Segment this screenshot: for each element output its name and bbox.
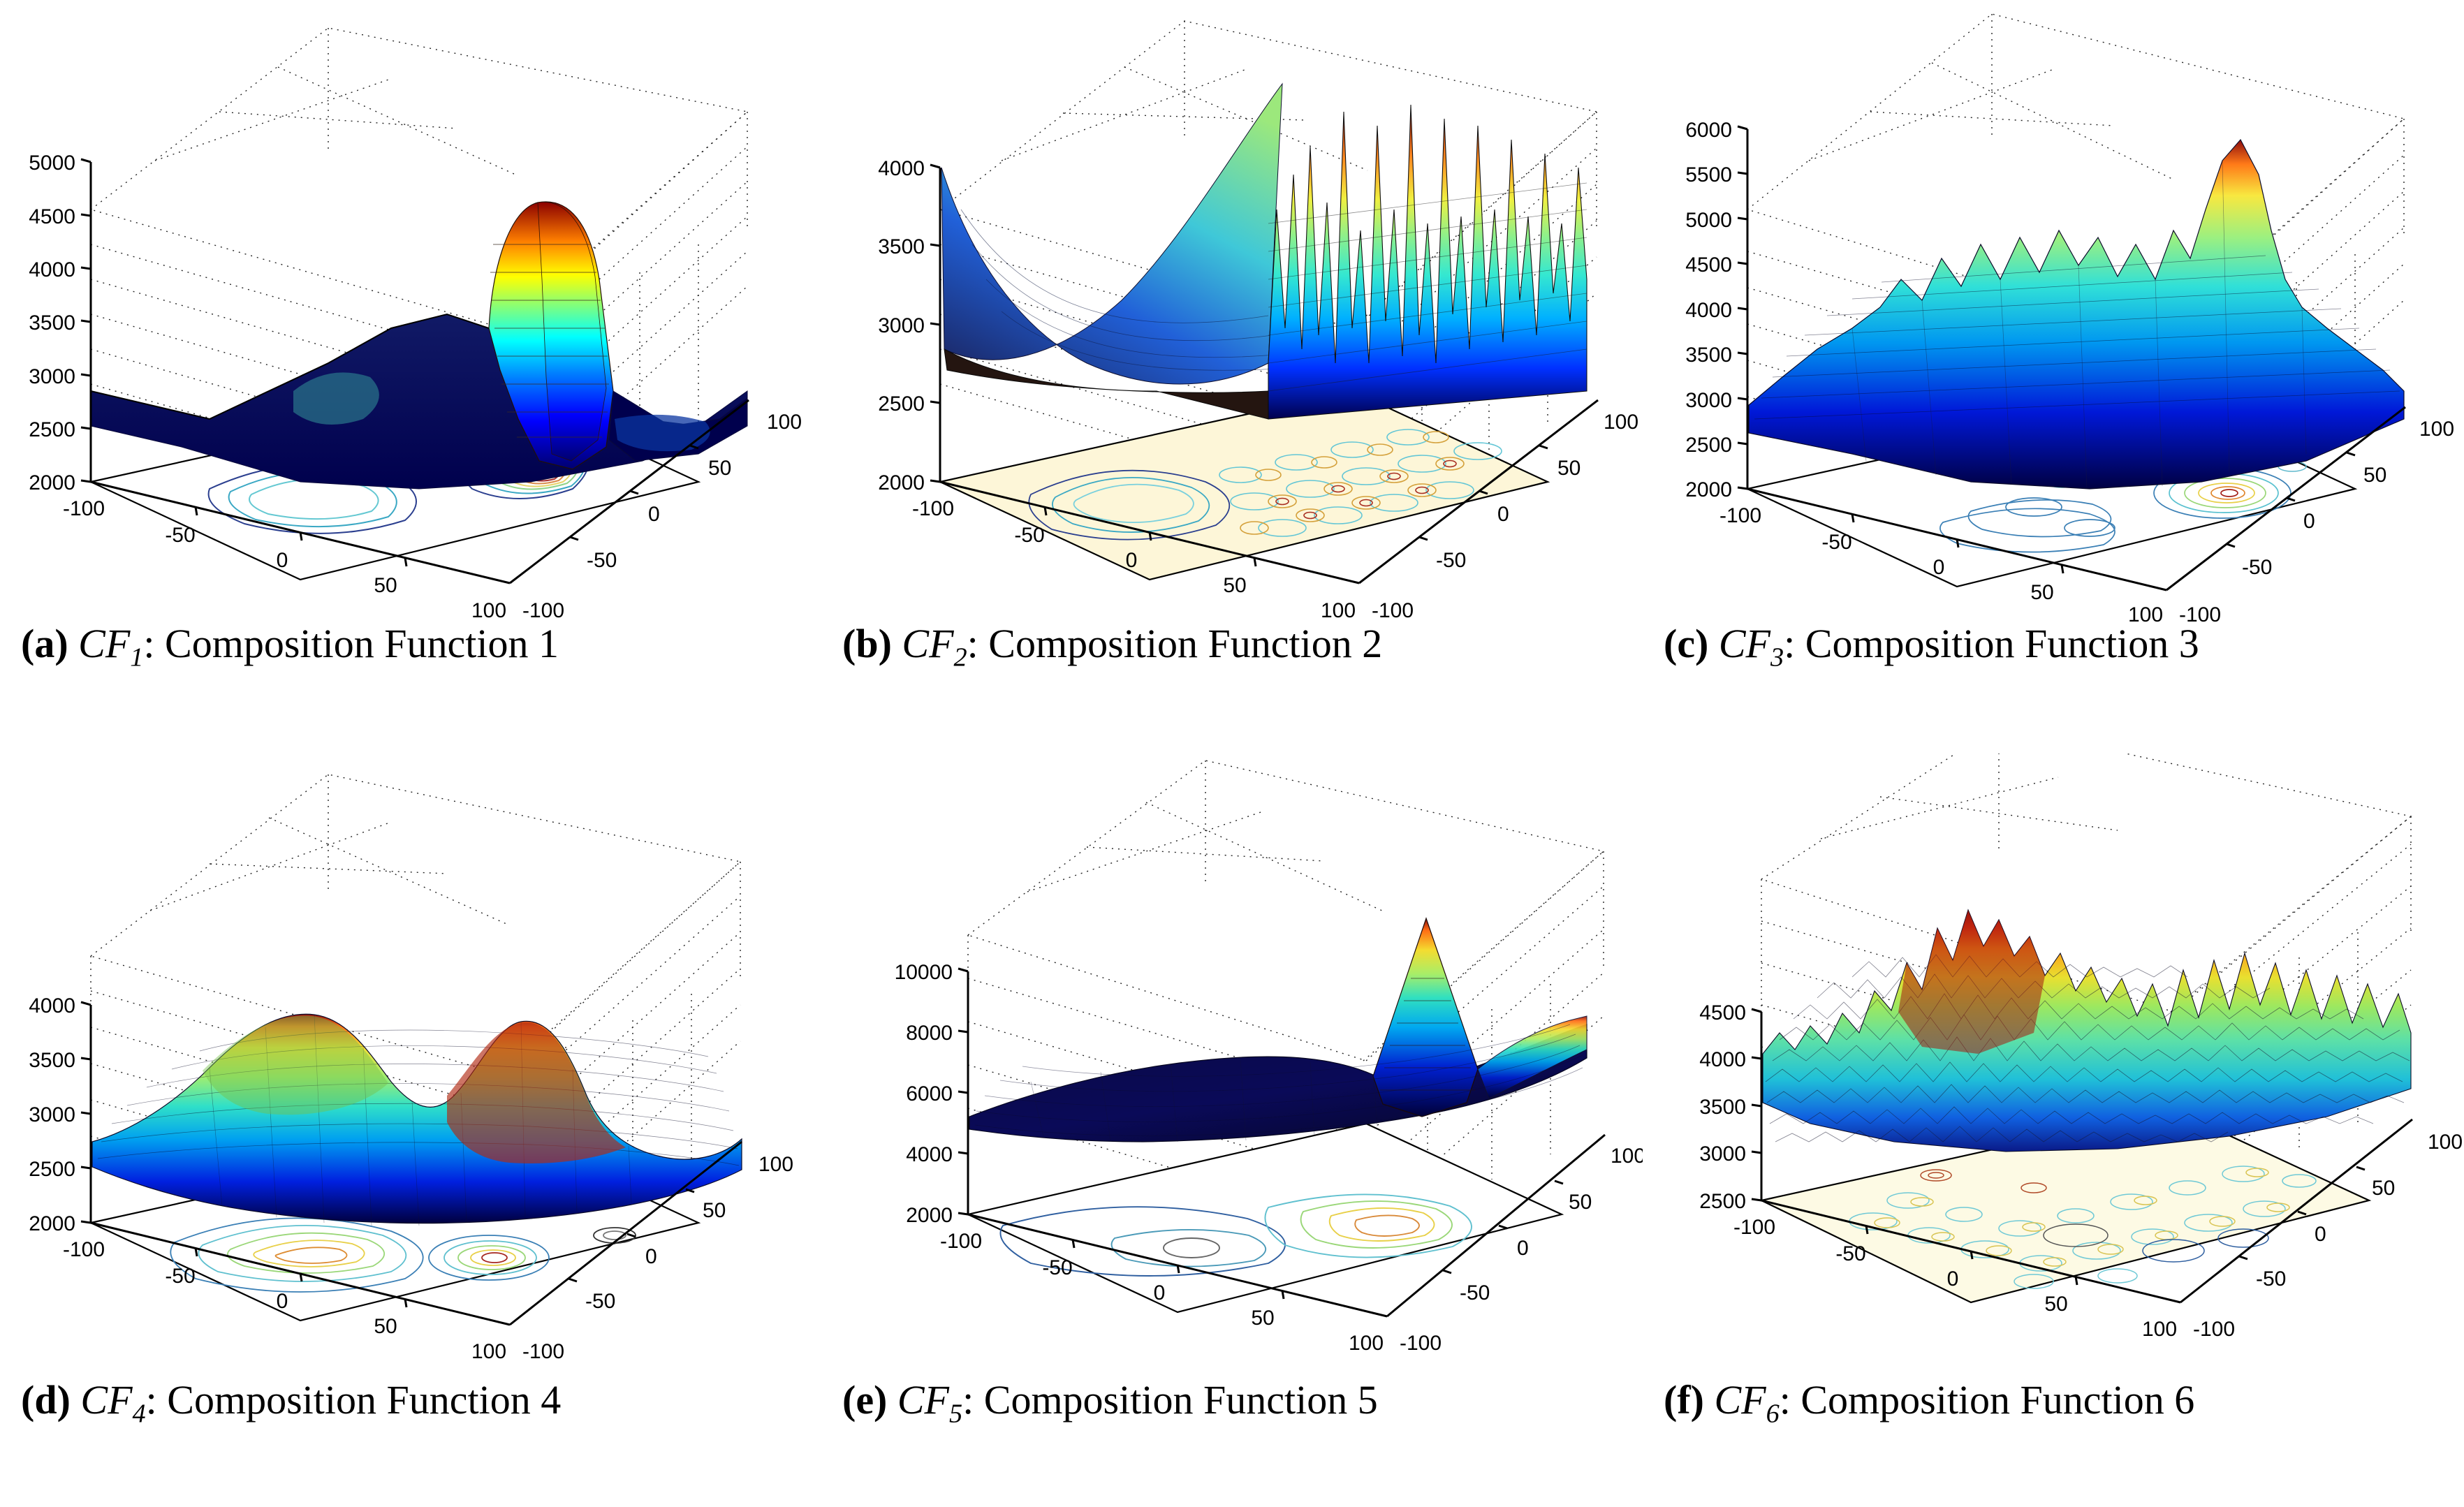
y-tick: 50 (703, 1199, 726, 1222)
x-tick: 100 (1349, 1332, 1384, 1355)
caption-label: (f) (1664, 1377, 1704, 1423)
plot-c: 6000 5500 5000 4500 4000 3500 3000 2500 … (1643, 0, 2464, 628)
z-tick-labels: 4000 3500 3000 2500 2000 (878, 157, 925, 494)
y-tick: 50 (1557, 457, 1581, 480)
panel-a: 5000 4500 4000 3500 3000 2500 2000 -100 … (0, 0, 821, 753)
caption-f: (f) CF6: Composition Function 6 (1643, 1379, 2464, 1422)
x-tick: 0 (1947, 1267, 1959, 1291)
z-axis (958, 969, 968, 1214)
z-tick: 2500 (1685, 434, 1732, 457)
z-tick: 3500 (29, 1049, 75, 1072)
y-tick: 100 (2428, 1131, 2463, 1154)
z-tick: 4000 (1699, 1048, 1746, 1071)
y-tick: 50 (2372, 1177, 2395, 1200)
panel-e: 10000 8000 6000 4000 2000 -100 -50 0 50 … (821, 753, 1643, 1507)
z-tick: 3000 (1699, 1142, 1746, 1166)
z-tick: 3000 (1685, 389, 1732, 412)
y-tick: 0 (645, 1245, 657, 1268)
plot-d: 4000 3500 3000 2500 2000 -100 -50 0 50 1… (0, 753, 821, 1382)
z-tick: 2000 (878, 471, 925, 494)
surface-mesh (941, 84, 1587, 419)
x-tick: -50 (1821, 531, 1851, 554)
x-tick: 100 (471, 1340, 506, 1363)
x-tick: 0 (277, 549, 288, 572)
panel-c: 6000 5500 5000 4500 4000 3500 3000 2500 … (1643, 0, 2464, 753)
z-tick: 4000 (906, 1143, 953, 1166)
z-tick: 3000 (878, 314, 925, 337)
z-tick: 2500 (1699, 1190, 1746, 1213)
y-tick: -100 (522, 1340, 564, 1363)
x-tick: 0 (277, 1290, 288, 1313)
x-tick: -50 (165, 524, 195, 547)
z-axis (81, 159, 91, 482)
z-tick: 6000 (906, 1082, 953, 1105)
caption-subscript: 6 (1766, 1399, 1780, 1429)
x-tick: -100 (63, 1238, 105, 1261)
z-axis (81, 1002, 91, 1223)
caption-e: (e) CF5: Composition Function 5 (821, 1379, 1643, 1422)
panel-b: 4000 3500 3000 2500 2000 -100 -50 0 50 1… (821, 0, 1643, 753)
z-tick: 4500 (1685, 253, 1732, 277)
y-tick: 0 (2315, 1223, 2326, 1246)
x-tick: 50 (1223, 574, 1246, 597)
surface-mesh (969, 918, 1587, 1142)
y-tick: -100 (1372, 599, 1414, 622)
x-tick: 0 (1126, 549, 1138, 572)
y-tick: -100 (522, 599, 564, 622)
x-tick: -100 (940, 1230, 982, 1253)
x-tick: -100 (63, 497, 105, 520)
z-tick: 10000 (895, 961, 953, 984)
caption-symbol: CF (80, 1377, 132, 1423)
caption-symbol: CF (897, 1377, 949, 1423)
z-tick: 4000 (1685, 299, 1732, 322)
surface-mesh (91, 202, 747, 489)
caption-text: : Composition Function 6 (1780, 1377, 2195, 1423)
y-tick: 100 (1604, 411, 1638, 434)
y-tick: -50 (2256, 1267, 2286, 1291)
z-tick-labels: 4500 4000 3500 3000 2500 (1699, 1001, 1746, 1213)
y-tick: 100 (767, 411, 802, 434)
z-tick: 8000 (906, 1022, 953, 1045)
x-tick: -50 (1835, 1242, 1865, 1265)
y-tick: 0 (648, 503, 660, 526)
plot-e: 10000 8000 6000 4000 2000 -100 -50 0 50 … (821, 753, 1643, 1382)
z-tick: 2500 (29, 418, 75, 441)
x-tick: 0 (1933, 556, 1945, 579)
plot-b: 4000 3500 3000 2500 2000 -100 -50 0 50 1… (821, 0, 1643, 628)
y-tick: -50 (1460, 1281, 1490, 1304)
caption-subscript: 5 (949, 1399, 962, 1429)
caption-subscript: 4 (133, 1399, 146, 1429)
x-tick: 50 (2044, 1293, 2067, 1316)
caption-text: : Composition Function 4 (146, 1377, 562, 1423)
z-tick: 3500 (878, 235, 925, 258)
surface-mesh (92, 1014, 742, 1226)
caption-label: (e) (842, 1377, 887, 1423)
surface-mesh (1763, 910, 2411, 1152)
x-tick: -50 (1014, 524, 1044, 547)
y-tick: 0 (2303, 510, 2315, 533)
z-tick: 2000 (1685, 478, 1732, 501)
plot-f: 4500 4000 3500 3000 2500 -100 -50 0 50 1… (1643, 753, 2464, 1382)
x-tick: -100 (1733, 1216, 1775, 1239)
z-tick: 5000 (1685, 209, 1732, 232)
y-tick: 0 (1517, 1237, 1529, 1260)
plot-a: 5000 4500 4000 3500 3000 2500 2000 -100 … (0, 0, 821, 628)
z-tick: 5500 (1685, 163, 1732, 186)
x-tick: 100 (2128, 603, 2163, 626)
y-tick: 50 (708, 457, 731, 480)
z-tick: 4500 (29, 205, 75, 228)
z-tick: 3000 (29, 1103, 75, 1126)
z-tick: 3000 (29, 365, 75, 388)
y-tick: 100 (1611, 1145, 1643, 1168)
y-tick: -100 (1400, 1332, 1442, 1355)
y-tick: 0 (1497, 503, 1509, 526)
x-tick: 0 (1154, 1281, 1166, 1304)
x-tick: 50 (374, 1315, 397, 1338)
panel-d: 4000 3500 3000 2500 2000 -100 -50 0 50 1… (0, 753, 821, 1507)
y-tick: 50 (2363, 464, 2386, 487)
surface-mesh (1749, 140, 2404, 489)
z-tick: 2500 (29, 1158, 75, 1181)
z-tick-labels: 10000 8000 6000 4000 2000 (895, 961, 953, 1227)
caption-c: (c) CF3: Composition Function 3 (1643, 623, 2464, 666)
z-axis (1752, 1009, 1761, 1200)
y-tick: 50 (1569, 1191, 1592, 1214)
y-tick: -50 (587, 549, 617, 572)
z-tick: 4000 (878, 157, 925, 180)
x-tick: -100 (912, 497, 954, 520)
caption-b: (b) CF2: Composition Function 2 (821, 623, 1643, 666)
z-tick: 5000 (29, 152, 75, 175)
z-tick: 4000 (29, 258, 75, 281)
z-axis (930, 165, 940, 482)
z-tick: 2000 (906, 1204, 953, 1227)
z-tick-labels: 5000 4500 4000 3500 3000 2500 2000 (29, 152, 75, 494)
y-tick: -50 (585, 1290, 615, 1313)
y-tick: 100 (758, 1153, 793, 1176)
z-tick-labels: 6000 5500 5000 4500 4000 3500 3000 2500 … (1685, 119, 1732, 501)
z-tick: 2000 (29, 471, 75, 494)
x-tick: 100 (2142, 1318, 2177, 1341)
z-tick: 2000 (29, 1212, 75, 1235)
y-tick: -50 (2242, 556, 2272, 579)
y-tick: -50 (1436, 549, 1466, 572)
caption-subscript: 1 (130, 643, 143, 672)
panel-f: 4500 4000 3500 3000 2500 -100 -50 0 50 1… (1643, 753, 2464, 1507)
x-tick: 100 (1321, 599, 1356, 622)
caption-symbol: CF (1714, 1377, 1766, 1423)
caption-subscript: 2 (954, 643, 967, 672)
z-axis (1738, 126, 1747, 489)
z-tick: 2500 (878, 392, 925, 416)
z-tick: 4500 (1699, 1001, 1746, 1024)
x-tick: 50 (2030, 581, 2053, 604)
y-tick: 100 (2419, 418, 2454, 441)
x-tick: 50 (1251, 1307, 1274, 1330)
figure-grid: 5000 4500 4000 3500 3000 2500 2000 -100 … (0, 0, 2464, 1507)
caption-text: : Composition Function 5 (962, 1377, 1378, 1423)
y-tick: -100 (2179, 603, 2221, 626)
caption-label: (d) (21, 1377, 71, 1423)
x-tick: -100 (1719, 504, 1761, 527)
y-tick: -100 (2193, 1318, 2235, 1341)
z-tick: 3500 (29, 311, 75, 335)
x-tick: 100 (471, 599, 506, 622)
caption-subscript: 3 (1770, 643, 1784, 672)
z-tick: 4000 (29, 994, 75, 1017)
z-tick-labels: 4000 3500 3000 2500 2000 (29, 994, 75, 1235)
x-tick: -50 (165, 1265, 195, 1288)
z-tick: 6000 (1685, 119, 1732, 142)
caption-d: (d) CF4: Composition Function 4 (0, 1379, 821, 1422)
caption-a: (a) CF1: Composition Function 1 (0, 623, 821, 666)
x-tick: 50 (374, 574, 397, 597)
z-tick: 3500 (1685, 344, 1732, 367)
x-tick: -50 (1042, 1256, 1072, 1279)
z-tick: 3500 (1699, 1096, 1746, 1119)
